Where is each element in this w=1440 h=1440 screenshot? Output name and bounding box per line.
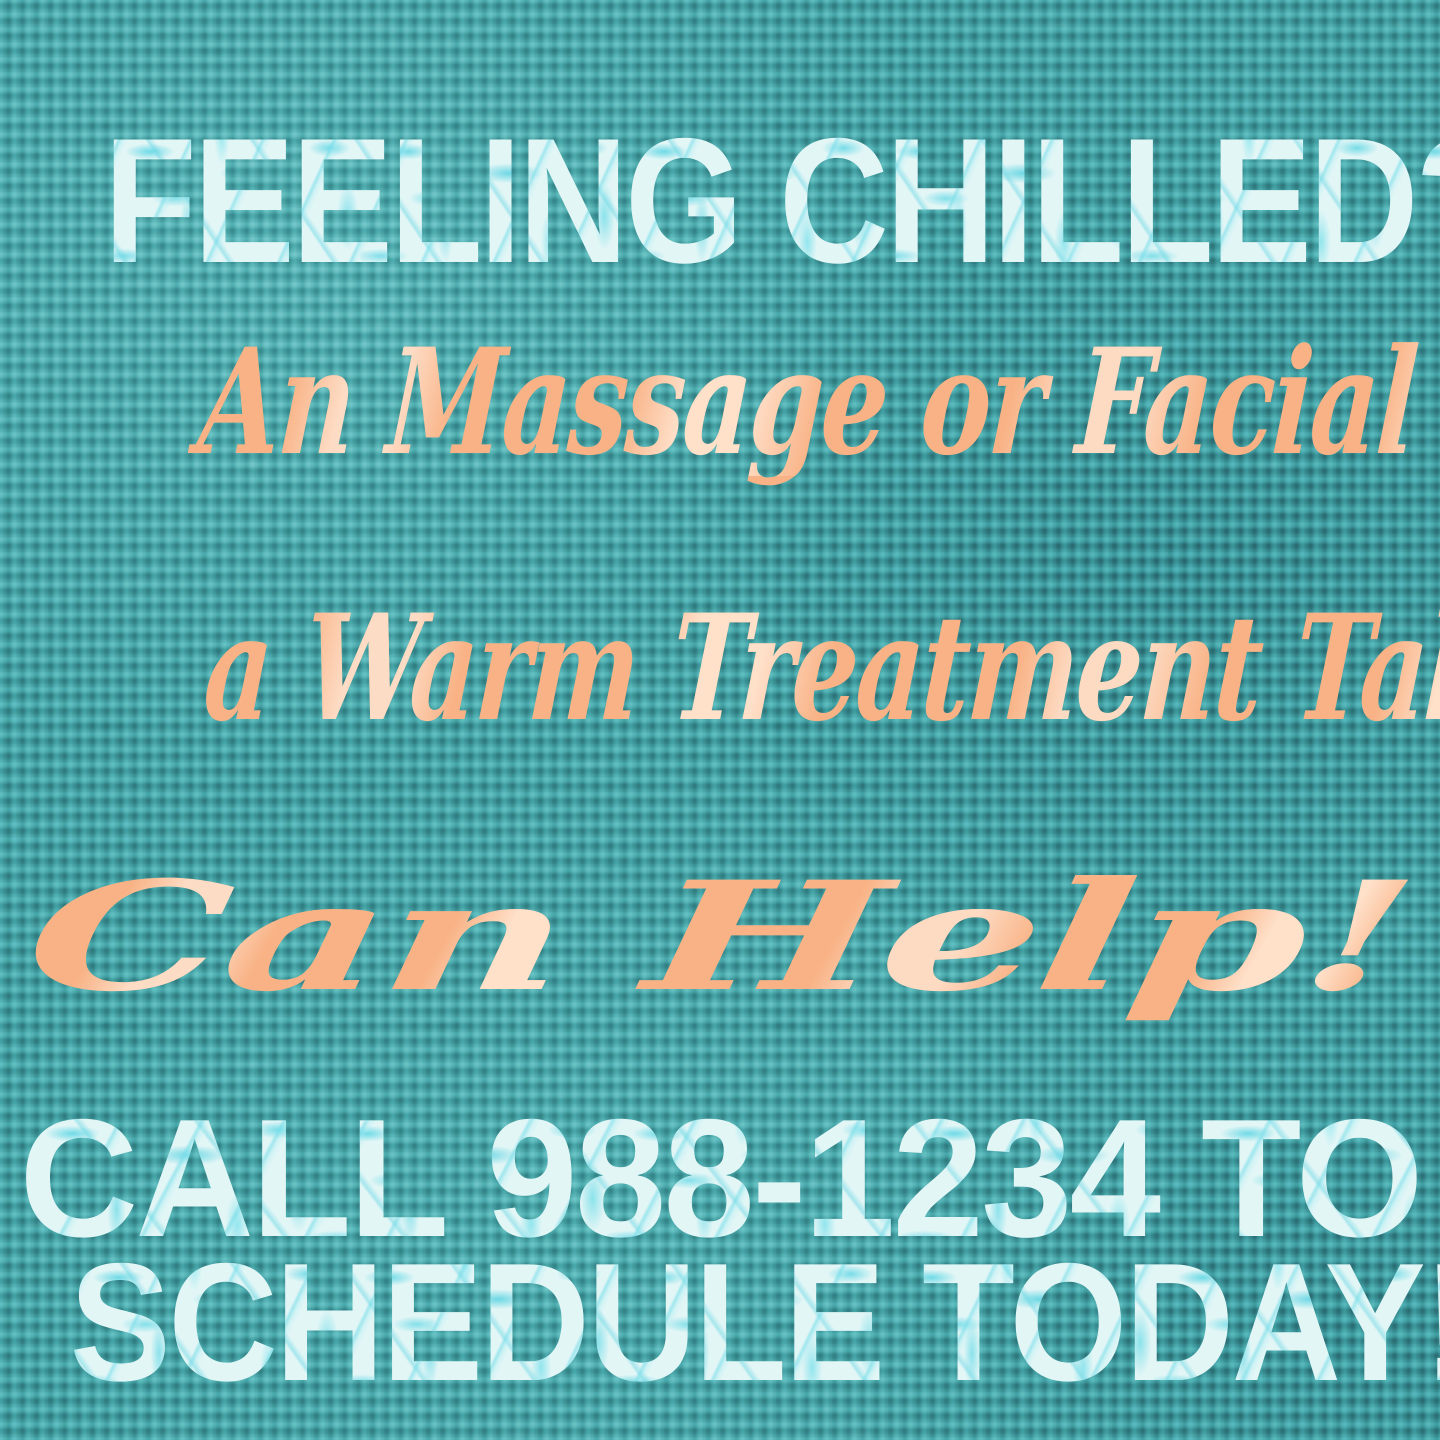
offer-line-2-fill: a Warm Treatment Table a Warm Treatment … — [201, 596, 1440, 742]
offer-line-2-text: a Warm Treatment Table — [201, 596, 1440, 742]
headline-question-fill: FEELING CHILLED? FEELING CHILLED? FEELIN… — [104, 112, 1440, 290]
cta-schedule-text: SCHEDULE TODAY! — [70, 1238, 1440, 1406]
offer-line-1-fill: An Massage or Facial on An Massage or Fa… — [195, 330, 1440, 476]
offer-line-2: a Warm Treatment Table a Warm Treatment … — [201, 596, 1240, 742]
headline-question-text: FEELING CHILLED? — [104, 112, 1440, 290]
cta-schedule-fill: SCHEDULE TODAY! SCHEDULE TODAY! SCHEDULE… — [70, 1238, 1440, 1406]
poster-text-stack: FEELING CHILLED? FEELING CHILLED? FEELIN… — [0, 0, 1440, 1440]
offer-line-3-text: Can Help! — [19, 862, 1422, 1012]
offer-line-3: Can Help! Can Help! — [0, 862, 1440, 1012]
promotional-poster: FEELING CHILLED? FEELING CHILLED? FEELIN… — [0, 0, 1440, 1440]
headline-question: FEELING CHILLED? FEELING CHILLED? FEELIN… — [104, 112, 1337, 290]
cta-schedule: SCHEDULE TODAY! SCHEDULE TODAY! SCHEDULE… — [70, 1238, 1371, 1406]
offer-line-1: An Massage or Facial on An Massage or Fa… — [195, 330, 1246, 476]
offer-line-3-fill: Can Help! Can Help! — [19, 862, 1422, 1012]
offer-line-1-text: An Massage or Facial on — [195, 330, 1440, 476]
